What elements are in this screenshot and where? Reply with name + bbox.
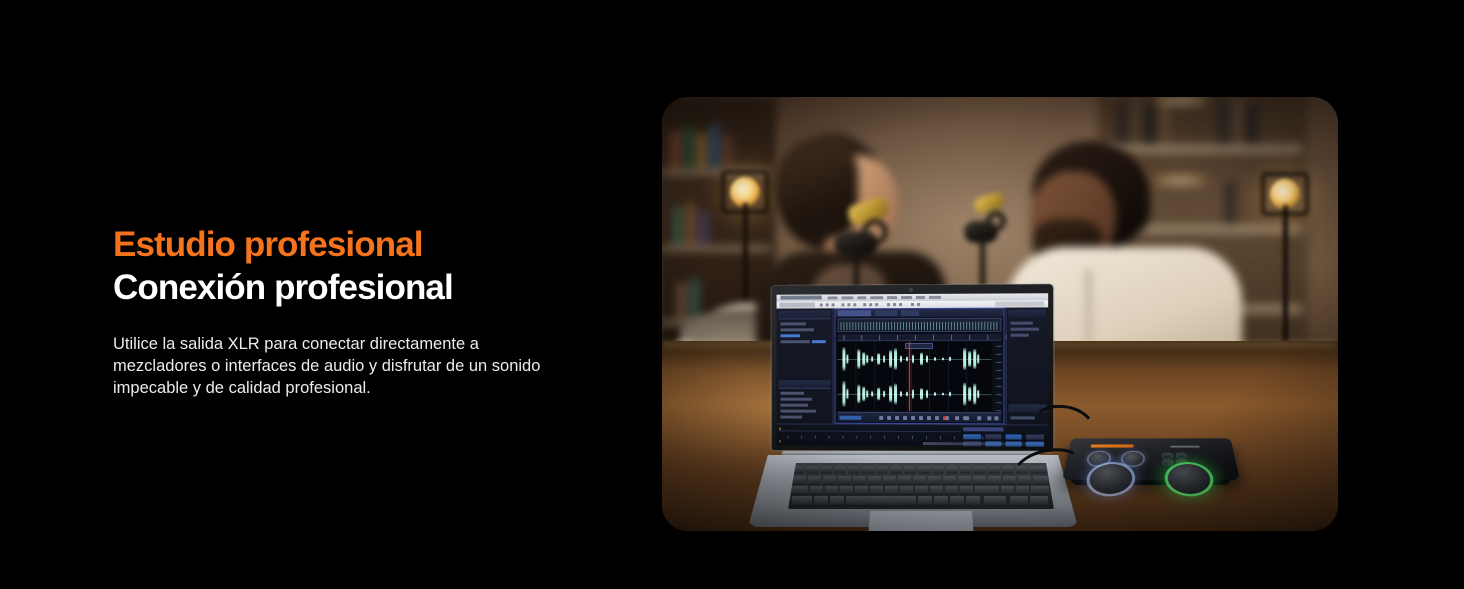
brand-logo xyxy=(1091,444,1134,447)
gain-knob-2[interactable] xyxy=(1122,452,1143,465)
transport-controls[interactable] xyxy=(838,412,1002,423)
zoom-out2-button[interactable] xyxy=(965,416,969,420)
stop-button[interactable] xyxy=(879,416,883,420)
editor-tabs[interactable] xyxy=(836,309,1004,318)
promo-banner: Estudio profesional Conexión profesional… xyxy=(0,0,1464,589)
rewind-button[interactable] xyxy=(903,416,907,420)
model-label xyxy=(1170,446,1199,448)
daw-waveform-editor[interactable] xyxy=(835,308,1005,425)
monitor-knob[interactable] xyxy=(1087,464,1132,494)
copy-block: Estudio profesional Conexión profesional… xyxy=(113,224,583,400)
time-ruler[interactable] xyxy=(838,334,1002,341)
timecode-display xyxy=(839,416,861,420)
page-title: Conexión profesional xyxy=(113,267,583,308)
zoom-in2-button[interactable] xyxy=(977,416,981,420)
playhead[interactable] xyxy=(909,342,910,411)
zoom-reset-button[interactable] xyxy=(994,416,998,420)
loop-button[interactable] xyxy=(935,416,939,420)
daw-multitrack-bar[interactable] xyxy=(777,423,1049,446)
body-paragraph: Utilice la salida XLR para conectar dire… xyxy=(113,333,543,400)
skip-start-button[interactable] xyxy=(919,416,923,420)
function-button-1[interactable] xyxy=(1163,453,1172,458)
zoom-fit-button[interactable] xyxy=(945,416,949,420)
daw-right-panel[interactable] xyxy=(1006,307,1049,424)
waveform-channel-left[interactable] xyxy=(838,342,992,377)
daw-left-panel[interactable] xyxy=(777,308,834,423)
waveform-overview[interactable] xyxy=(838,318,1002,333)
status-line xyxy=(923,442,1044,446)
function-button-3[interactable] xyxy=(1163,460,1172,465)
zoom-full-button[interactable] xyxy=(987,416,991,420)
headphone-knob[interactable] xyxy=(1167,464,1212,494)
forward-button[interactable] xyxy=(911,416,915,420)
studio-photo xyxy=(662,97,1338,531)
waveform-canvas[interactable] xyxy=(838,342,992,411)
laptop-lid xyxy=(772,284,1054,452)
laptop-trackpad[interactable] xyxy=(868,511,974,531)
skip-end-button[interactable] xyxy=(927,416,931,420)
eyebrow-heading: Estudio profesional xyxy=(113,224,583,265)
function-button-2[interactable] xyxy=(1177,453,1186,458)
amplitude-scale xyxy=(992,342,1003,411)
zoom-sel-button[interactable] xyxy=(955,416,959,420)
waveform-channel-right[interactable] xyxy=(838,376,992,411)
webcam-icon xyxy=(909,288,913,292)
usb-audio-interface[interactable] xyxy=(1067,427,1239,505)
daw-screen[interactable] xyxy=(777,293,1049,447)
play-button[interactable] xyxy=(887,416,891,420)
gain-knob-1[interactable] xyxy=(1088,452,1110,465)
multitrack-timeline[interactable] xyxy=(779,430,961,441)
pause-button[interactable] xyxy=(895,416,899,420)
